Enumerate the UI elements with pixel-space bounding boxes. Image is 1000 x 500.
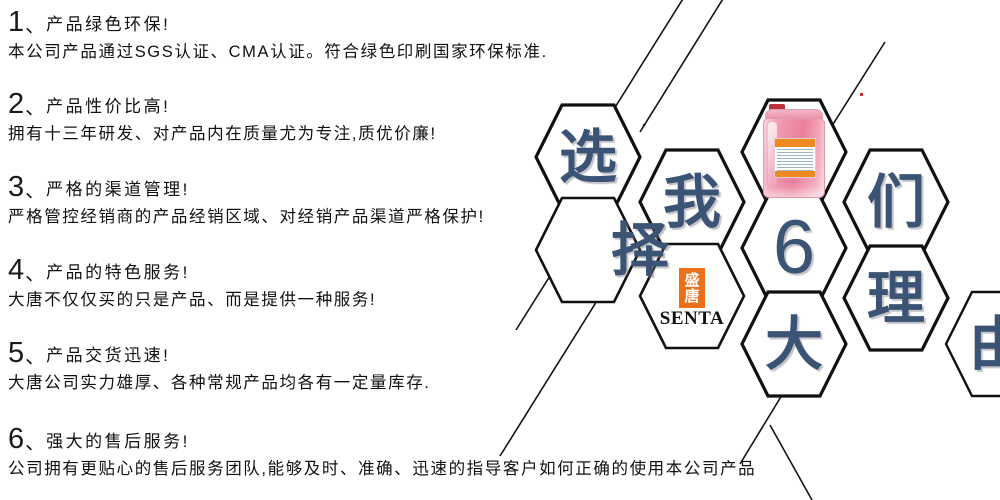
- label-top-band: [775, 139, 815, 147]
- label-bottom-band: [775, 171, 815, 177]
- reason-item-5: 5 、 产品交货迅速! 大唐公司实力雄厚、各种常规产品均各有一定量库存.: [8, 339, 430, 394]
- reason-number-6: 6: [8, 425, 24, 454]
- senta-seal-icon: 盛 唐: [679, 268, 705, 308]
- reason-heading-2: 2 、 产品性价比高!: [8, 90, 437, 119]
- reason-number-3: 3: [8, 173, 24, 202]
- reason-title-3: 严格的渠道管理!: [46, 179, 190, 202]
- reason-item-4: 4 、 产品的特色服务! 大唐不仅仅买的只是产品、而是提供一种服务!: [8, 256, 376, 311]
- reason-number-4: 4: [8, 256, 24, 285]
- seal-char-bottom: 唐: [684, 288, 699, 304]
- reason-title-1: 产品绿色环保!: [46, 14, 170, 37]
- reason-number-5: 5: [8, 339, 24, 368]
- reason-desc-1: 本公司产品通过SGS认证、CMA认证。符合绿色印刷国家环保标准.: [8, 41, 548, 63]
- reason-list: 1 、 产品绿色环保! 本公司产品通过SGS认证、CMA认证。符合绿色印刷国家环…: [0, 0, 1000, 500]
- reason-heading-3: 3 、 严格的渠道管理!: [8, 173, 485, 202]
- reason-title-2: 产品性价比高!: [46, 96, 170, 119]
- hex-glyph-you: 由: [969, 315, 1000, 373]
- reason-separator-3: 、: [25, 180, 45, 202]
- reason-heading-6: 6 、 强大的售后服务!: [8, 425, 756, 454]
- reason-separator-2: 、: [25, 97, 45, 119]
- reason-number-1: 1: [8, 8, 24, 37]
- reason-desc-5: 大唐公司实力雄厚、各种常规产品均各有一定量库存.: [8, 372, 430, 394]
- hex-glyph-men: 们: [867, 173, 925, 231]
- pink-chemical-jerry-can-icon: [763, 104, 825, 200]
- reason-heading-5: 5 、 产品交货迅速!: [8, 339, 430, 368]
- reason-heading-1: 1 、 产品绿色环保!: [8, 8, 548, 37]
- reason-item-1: 1 、 产品绿色环保! 本公司产品通过SGS认证、CMA认证。符合绿色印刷国家环…: [8, 8, 548, 63]
- reason-separator-6: 、: [25, 432, 45, 454]
- reason-desc-6: 公司拥有更贴心的售后服务团队,能够及时、准确、迅速的指导客户如何正确的使用本公司…: [8, 458, 756, 480]
- hex-glyph-xuan: 选: [559, 128, 617, 186]
- reason-separator-4: 、: [25, 263, 45, 285]
- reason-title-5: 产品交货迅速!: [46, 345, 170, 368]
- label-text-lines: [775, 147, 815, 174]
- reason-item-6: 6 、 强大的售后服务! 公司拥有更贴心的售后服务团队,能够及时、准确、迅速的指…: [8, 425, 756, 480]
- jug-product-label: [774, 138, 816, 178]
- reason-title-4: 产品的特色服务!: [46, 262, 190, 285]
- reason-separator-1: 、: [25, 15, 45, 37]
- seal-char-top: 盛: [684, 272, 699, 288]
- reason-title-6: 强大的售后服务!: [46, 431, 190, 454]
- reason-item-2: 2 、 产品性价比高! 拥有十三年研发、对产品内在质量尤为专注,质优价廉!: [8, 90, 437, 145]
- hex-glyph-da: 大: [765, 315, 823, 373]
- senta-wordmark: SENTA: [660, 309, 724, 329]
- reason-desc-3: 严格管控经销商的产品经销区域、对经销产品渠道严格保护!: [8, 206, 485, 228]
- hex-glyph-li: 理: [867, 269, 925, 327]
- senta-logo: 盛 唐 SENTA: [660, 268, 724, 329]
- reason-desc-4: 大唐不仅仅买的只是产品、而是提供一种服务!: [8, 289, 376, 311]
- reason-number-2: 2: [8, 90, 24, 119]
- reason-item-3: 3 、 严格的渠道管理! 严格管控经销商的产品经销区域、对经销产品渠道严格保护!: [8, 173, 485, 228]
- reason-separator-5: 、: [25, 346, 45, 368]
- hex-glyph-six: 6: [773, 210, 815, 286]
- poster-canvas: 选 择 我 6 们 大 理 由 盛 唐 SENTA: [0, 0, 1000, 500]
- reason-heading-4: 4 、 产品的特色服务!: [8, 256, 376, 285]
- reason-desc-2: 拥有十三年研发、对产品内在质量尤为专注,质优价廉!: [8, 123, 437, 145]
- hex-glyph-wo: 我: [663, 173, 721, 231]
